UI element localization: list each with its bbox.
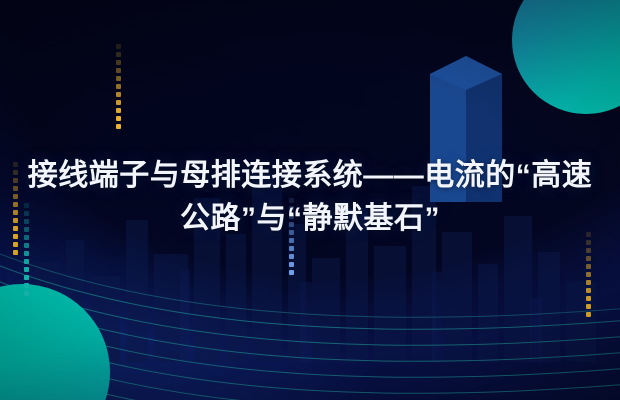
presentation-slide: 接线端子与母排连接系统——电流的“高速公路”与“静默基石” <box>0 0 620 400</box>
title-container: 接线端子与母排连接系统——电流的“高速公路”与“静默基石” <box>0 155 620 240</box>
dot-column-gold-right <box>586 232 592 320</box>
slide-title: 接线端子与母排连接系统——电流的“高速公路”与“静默基石” <box>26 155 594 240</box>
dot-column-gold-top <box>116 44 122 132</box>
